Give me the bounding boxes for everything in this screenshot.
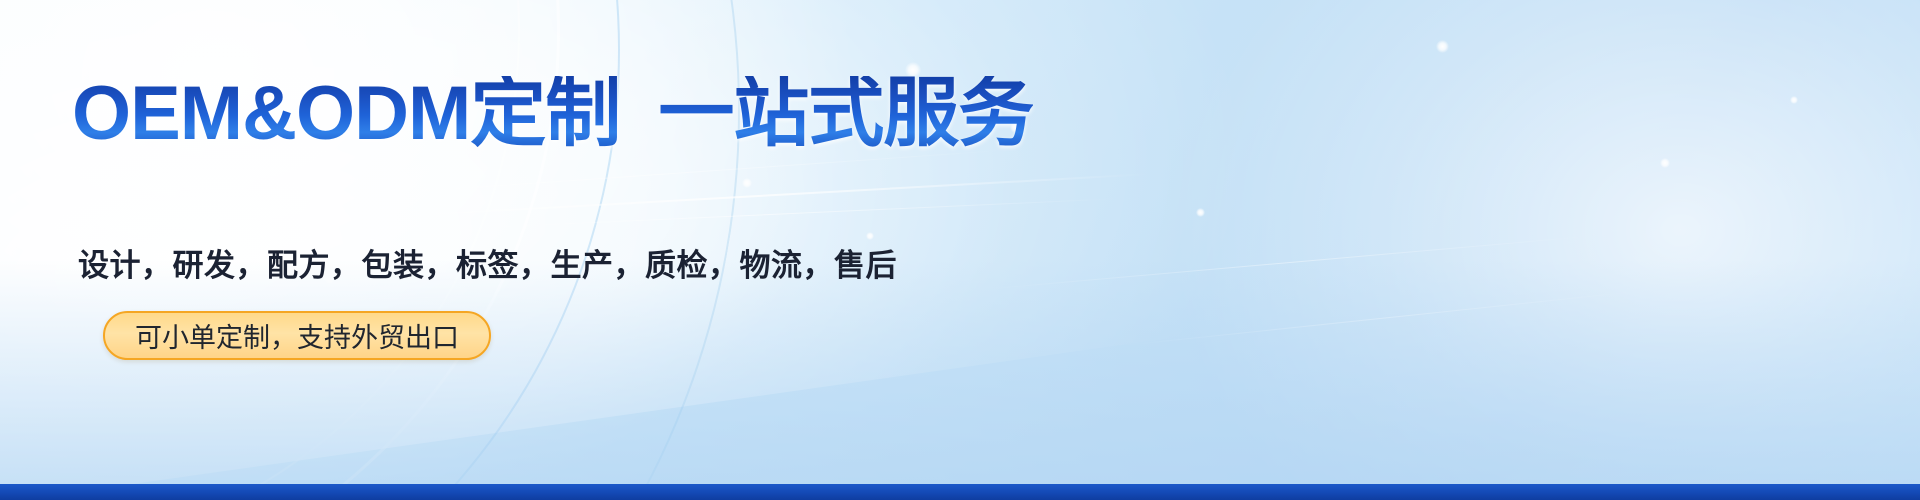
status-badge: 可小单定制，支持外贸出口 bbox=[103, 311, 491, 360]
bottom-accent-bar bbox=[0, 484, 1920, 500]
promo-banner: 珂妮 洗手液 Liquid Soap Katrina Hand Soap bbox=[0, 0, 1920, 500]
status-badge-label: 可小单定制，支持外贸出口 bbox=[135, 316, 459, 355]
banner-text-block: OEM&ODM定制一站式服务 设计，研发，配方，包装，标签，生产，质检，物流，售… bbox=[0, 0, 1050, 500]
product-image-cluster: 珂妮 洗手液 Liquid Soap Katrina Hand Soap bbox=[1000, 0, 1920, 500]
page-title: OEM&ODM定制一站式服务 bbox=[72, 76, 1033, 152]
service-list-subtitle: 设计，研发，配方，包装，标签，生产，质检，物流，售后 bbox=[78, 240, 897, 285]
headline-part-1: OEM&ODM定制 bbox=[72, 71, 620, 156]
headline-part-2: 一站式服务 bbox=[658, 71, 1033, 156]
